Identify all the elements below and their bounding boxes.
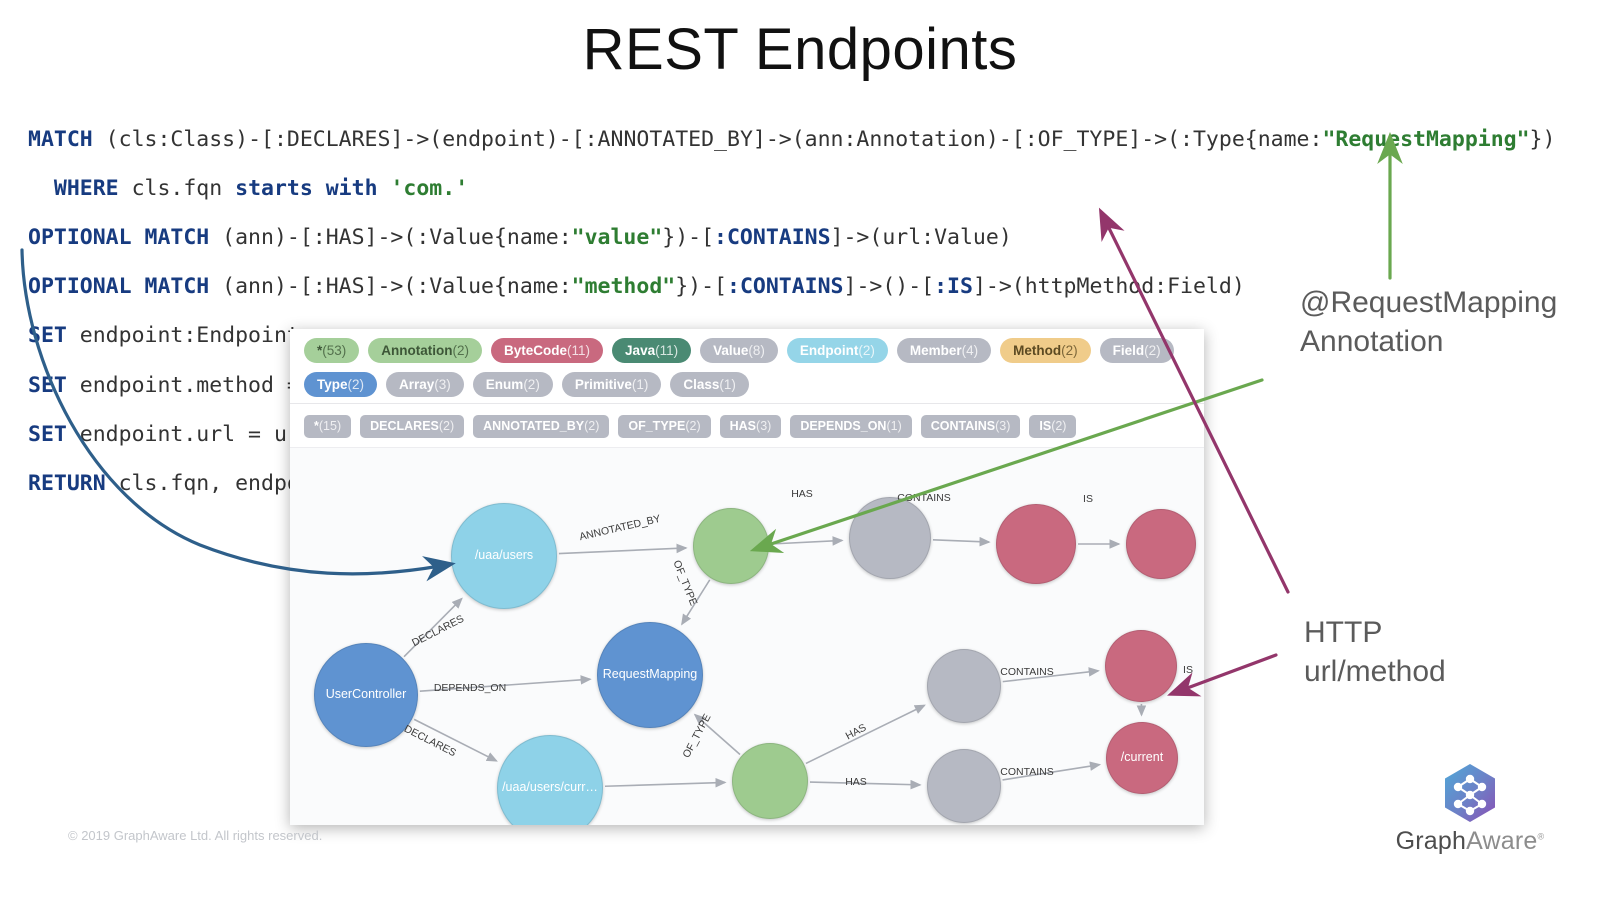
graph-node-bytecode-mid[interactable] <box>1105 630 1177 702</box>
relationship-type-legend-row: *(15)DECLARES(2)ANNOTATED_BY(2)OF_TYPE(2… <box>304 412 1196 440</box>
page-title: REST Endpoints <box>0 12 1600 88</box>
rel-type-badge-declares[interactable]: DECLARES(2) <box>360 415 464 438</box>
badge-count: (1) <box>886 419 901 433</box>
node-label-badge-array[interactable]: Array(3) <box>386 372 464 397</box>
badge-label: Annotation <box>381 343 452 358</box>
graph-edge-label-contains: CONTAINS <box>897 492 950 504</box>
badge-label: Method <box>1013 343 1061 358</box>
node-label-badge-field[interactable]: Field(2) <box>1100 338 1174 363</box>
rel-type-badge-of_type[interactable]: OF_TYPE(2) <box>618 415 710 438</box>
badge-label: Field <box>1113 343 1145 358</box>
badge-label: DEPENDS_ON <box>800 419 886 433</box>
graph-node-uaa-users[interactable]: /uaa/users <box>451 503 557 609</box>
node-label-badge-enum[interactable]: Enum(2) <box>473 372 553 397</box>
graph-node-caption: RequestMapping <box>603 668 698 682</box>
node-label-legend-row-2: Type(2)Array(3)Enum(2)Primitive(1)Class(… <box>304 370 1196 398</box>
cypher-line-1: MATCH (cls:Class)-[:DECLARES]->(endpoint… <box>28 128 1555 153</box>
node-label-badge-type[interactable]: Type(2) <box>304 372 377 397</box>
graph-edge-label-is: IS <box>1083 493 1093 505</box>
badge-count: (2) <box>858 343 875 358</box>
graph-node-requestmapping[interactable]: RequestMapping <box>597 622 703 728</box>
graph-edge-label-contains: CONTAINS <box>1000 666 1053 678</box>
graph-edge-8 <box>605 782 725 786</box>
brand-dark: Graph <box>1396 827 1466 855</box>
slide-root: REST Endpoints MATCH (cls:Class)-[:DECLA… <box>0 0 1600 900</box>
badge-label: Array <box>399 377 434 392</box>
node-label-badge-method[interactable]: Method(2) <box>1000 338 1091 363</box>
graph-node-caption: /uaa/users/curr… <box>502 781 598 795</box>
badge-count: (8) <box>748 343 765 358</box>
graph-edge-label-has: HAS <box>845 776 867 788</box>
neo4j-browser-graph-panel[interactable]: *(53)Annotation(2)ByteCode(11)Java(11)Va… <box>290 329 1204 825</box>
graphaware-logo: GraphAware® <box>1390 762 1550 856</box>
badge-count: (3) <box>434 377 451 392</box>
rel-type-badge-[interactable]: *(15) <box>304 415 351 438</box>
cypher-line-2: WHERE cls.fqn starts with 'com.' <box>28 177 1555 202</box>
relationship-type-legend: *(15)DECLARES(2)ANNOTATED_BY(2)OF_TYPE(2… <box>290 403 1204 447</box>
graph-node-bytecode-top2[interactable] <box>1126 509 1196 579</box>
node-label-legend-row-1: *(53)Annotation(2)ByteCode(11)Java(11)Va… <box>304 336 1196 364</box>
badge-count: (53) <box>322 343 346 358</box>
badge-label: IS <box>1039 419 1051 433</box>
node-label-badge-class[interactable]: Class(1) <box>670 372 749 397</box>
graph-node-ann-bottom[interactable] <box>732 743 808 819</box>
badge-count: (2) <box>348 377 365 392</box>
graph-node-value-top[interactable] <box>849 497 931 579</box>
badge-label: Java <box>625 343 655 358</box>
graph-edge-2 <box>933 540 989 542</box>
badge-label: Value <box>713 343 748 358</box>
node-label-badge-value[interactable]: Value(8) <box>700 338 778 363</box>
badge-count: (2) <box>1061 343 1078 358</box>
rel-type-badge-is[interactable]: IS(2) <box>1029 415 1076 438</box>
badge-count: (11) <box>567 343 590 358</box>
brand-light: Aware <box>1466 827 1537 855</box>
node-label-badge-member[interactable]: Member(4) <box>897 338 991 363</box>
graph-node-bytecode-top[interactable] <box>996 504 1076 584</box>
graph-edge-0 <box>559 548 686 554</box>
graph-edge-label-depends_on: DEPENDS_ON <box>434 682 506 694</box>
graph-edge-label-has: HAS <box>791 488 813 500</box>
rel-type-badge-contains[interactable]: CONTAINS(3) <box>921 415 1021 438</box>
graph-node-caption: /uaa/users <box>475 549 533 563</box>
badge-count: (1) <box>719 377 736 392</box>
badge-label: Class <box>683 377 719 392</box>
badge-label: ByteCode <box>504 343 567 358</box>
badge-count: (2) <box>1144 343 1161 358</box>
badge-count: (1) <box>632 377 649 392</box>
badge-count: (3) <box>995 419 1010 433</box>
graph-edge-label-contains: CONTAINS <box>1000 766 1053 778</box>
copyright-notice: © 2019 GraphAware Ltd. All rights reserv… <box>68 828 322 843</box>
badge-count: (2) <box>453 343 470 358</box>
node-label-legend: *(53)Annotation(2)ByteCode(11)Java(11)Va… <box>290 329 1204 403</box>
rel-type-badge-depends_on[interactable]: DEPENDS_ON(1) <box>790 415 911 438</box>
node-label-badge-annotation[interactable]: Annotation(2) <box>368 338 482 363</box>
badge-label: Member <box>910 343 962 358</box>
badge-label: ANNOTATED_BY <box>483 419 584 433</box>
badge-label: DECLARES <box>370 419 439 433</box>
graph-node-ann-top[interactable] <box>693 508 769 584</box>
badge-label: OF_TYPE <box>628 419 685 433</box>
brand-trademark: ® <box>1538 832 1545 842</box>
graph-edge-label-is: IS <box>1183 664 1193 676</box>
badge-count: (15) <box>319 419 341 433</box>
node-label-badge-[interactable]: *(53) <box>304 338 359 363</box>
callout-requestmapping-annotation: @RequestMapping Annotation <box>1300 283 1557 361</box>
badge-count: (2) <box>1051 419 1066 433</box>
graph-node-current[interactable]: /current <box>1106 722 1178 794</box>
badge-label: CONTAINS <box>931 419 995 433</box>
badge-count: (2) <box>584 419 599 433</box>
graph-node-caption: /current <box>1121 751 1163 765</box>
graph-node-caption: UserController <box>326 688 407 702</box>
rel-type-badge-has[interactable]: HAS(3) <box>720 415 782 438</box>
graph-visualization-canvas[interactable]: /uaa/usersUserControllerRequestMapping/u… <box>290 447 1204 825</box>
graph-edge-1 <box>771 540 842 544</box>
node-label-badge-java[interactable]: Java(11) <box>612 338 691 363</box>
badge-count: (2) <box>685 419 700 433</box>
callout-http-url-method: HTTP url/method <box>1304 613 1446 691</box>
graphaware-hex-icon <box>1439 762 1501 824</box>
badge-label: HAS <box>730 419 756 433</box>
badge-label: Endpoint <box>800 343 858 358</box>
badge-label: Primitive <box>575 377 632 392</box>
badge-count: (2) <box>523 377 540 392</box>
rel-type-badge-annotated_by[interactable]: ANNOTATED_BY(2) <box>473 415 609 438</box>
graphaware-wordmark: GraphAware® <box>1390 827 1550 856</box>
badge-count: (2) <box>439 419 454 433</box>
graph-node-value-mid[interactable] <box>927 649 1001 723</box>
badge-label: Type <box>317 377 348 392</box>
cypher-line-3: OPTIONAL MATCH (ann)-[:HAS]->(:Value{nam… <box>28 226 1555 251</box>
badge-label: Enum <box>486 377 524 392</box>
badge-count: (4) <box>962 343 979 358</box>
graph-node-value-bottom[interactable] <box>927 749 1001 823</box>
node-label-badge-bytecode[interactable]: ByteCode(11) <box>491 338 603 363</box>
badge-count: (11) <box>655 343 678 358</box>
graph-edge-10 <box>806 705 925 763</box>
badge-count: (3) <box>756 419 771 433</box>
node-label-badge-endpoint[interactable]: Endpoint(2) <box>787 338 888 363</box>
node-label-badge-primitive[interactable]: Primitive(1) <box>562 372 662 397</box>
